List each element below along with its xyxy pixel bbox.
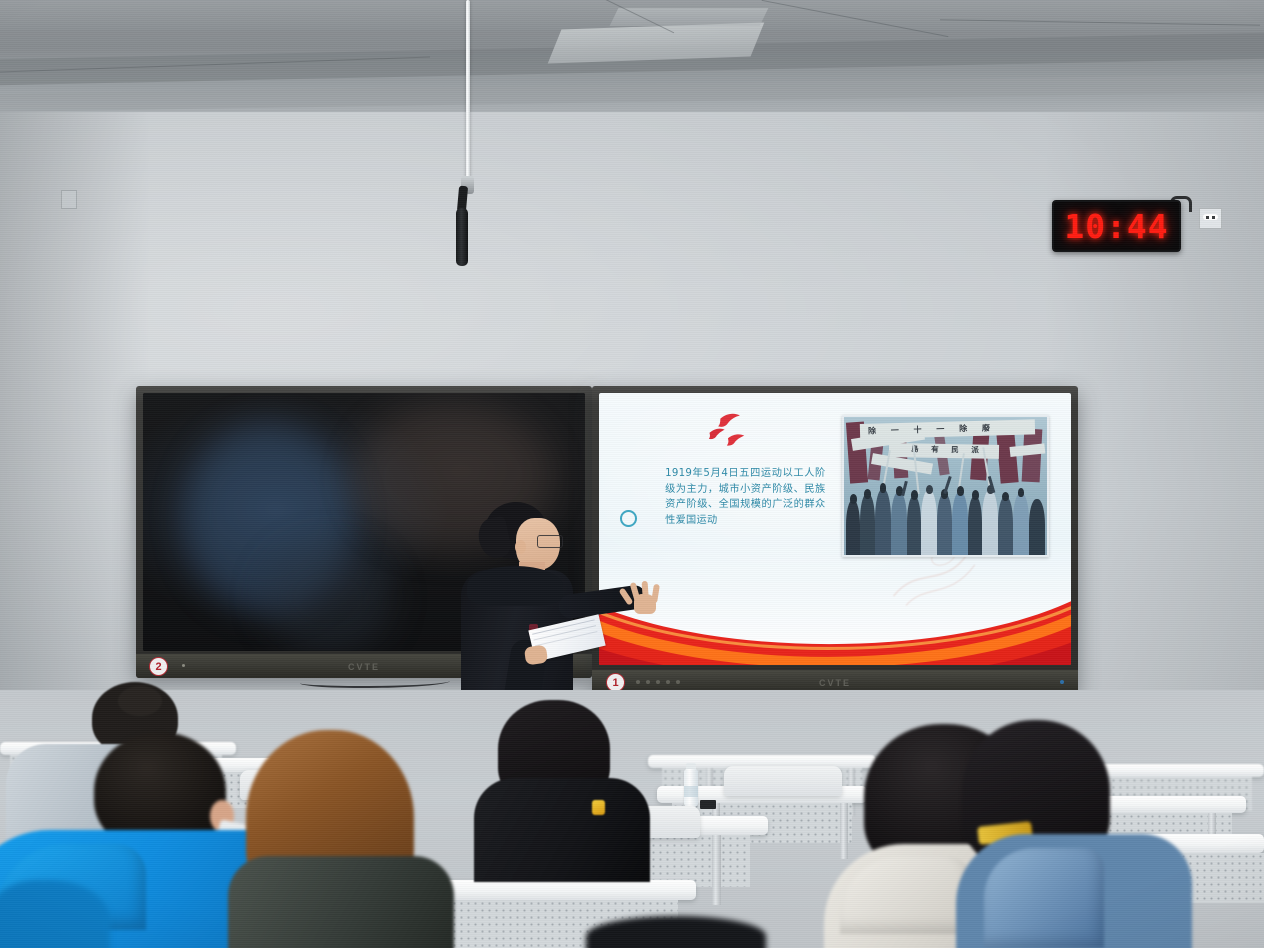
right-display-panel[interactable]: 1919年5月4日五四运动以工人阶级为主力，城市小资产阶级、民族资产阶级、全国规… [592,386,1078,694]
wall-shadow [0,112,150,772]
shoulder-badge-icon [592,800,605,815]
classroom-photo: 10:44 2 CVTE [0,0,1264,948]
microphone-capsule-icon [456,208,468,266]
presentation-slide: 1919年5月4日五四运动以工人阶级为主力，城市小资产阶级、民族资产阶级、全国规… [599,393,1071,665]
foreground-head-blur [586,916,766,948]
student-brown-hair [228,730,458,948]
red-ribbon-graphic [599,578,1071,665]
student-denim [956,728,1206,948]
bottle-label [684,786,698,797]
left-display-badge: 2 [149,657,168,676]
ceiling-light-panel [610,8,769,26]
status-led-icon [182,664,185,667]
presenter-hand [628,580,662,612]
wall-digital-clock: 10:44 [1052,200,1181,252]
right-display-brand: CVTE [819,678,851,688]
power-led-icon [1060,680,1064,684]
glasses-icon [537,535,563,548]
ceiling [0,0,1264,120]
wall-plate-left-icon [61,190,77,209]
student-black-top [474,712,650,872]
wall-outlet-right-icon [1199,208,1222,229]
microphone-pole [466,0,470,182]
clock-time-display: 10:44 [1064,207,1168,246]
historical-photo: 除 一 十 一 除 廢 島 有 民 派 [842,415,1049,558]
slide-body-text: 1919年5月4日五四运动以工人阶级为主力，城市小资产阶级、民族资产阶级、全国规… [665,466,825,528]
left-display-brand: CVTE [348,662,380,672]
right-display-screen[interactable]: 1919年5月4日五四运动以工人阶级为主力，城市小资产阶级、民族资产阶级、全国规… [599,393,1071,665]
red-doves-icon [684,409,778,453]
